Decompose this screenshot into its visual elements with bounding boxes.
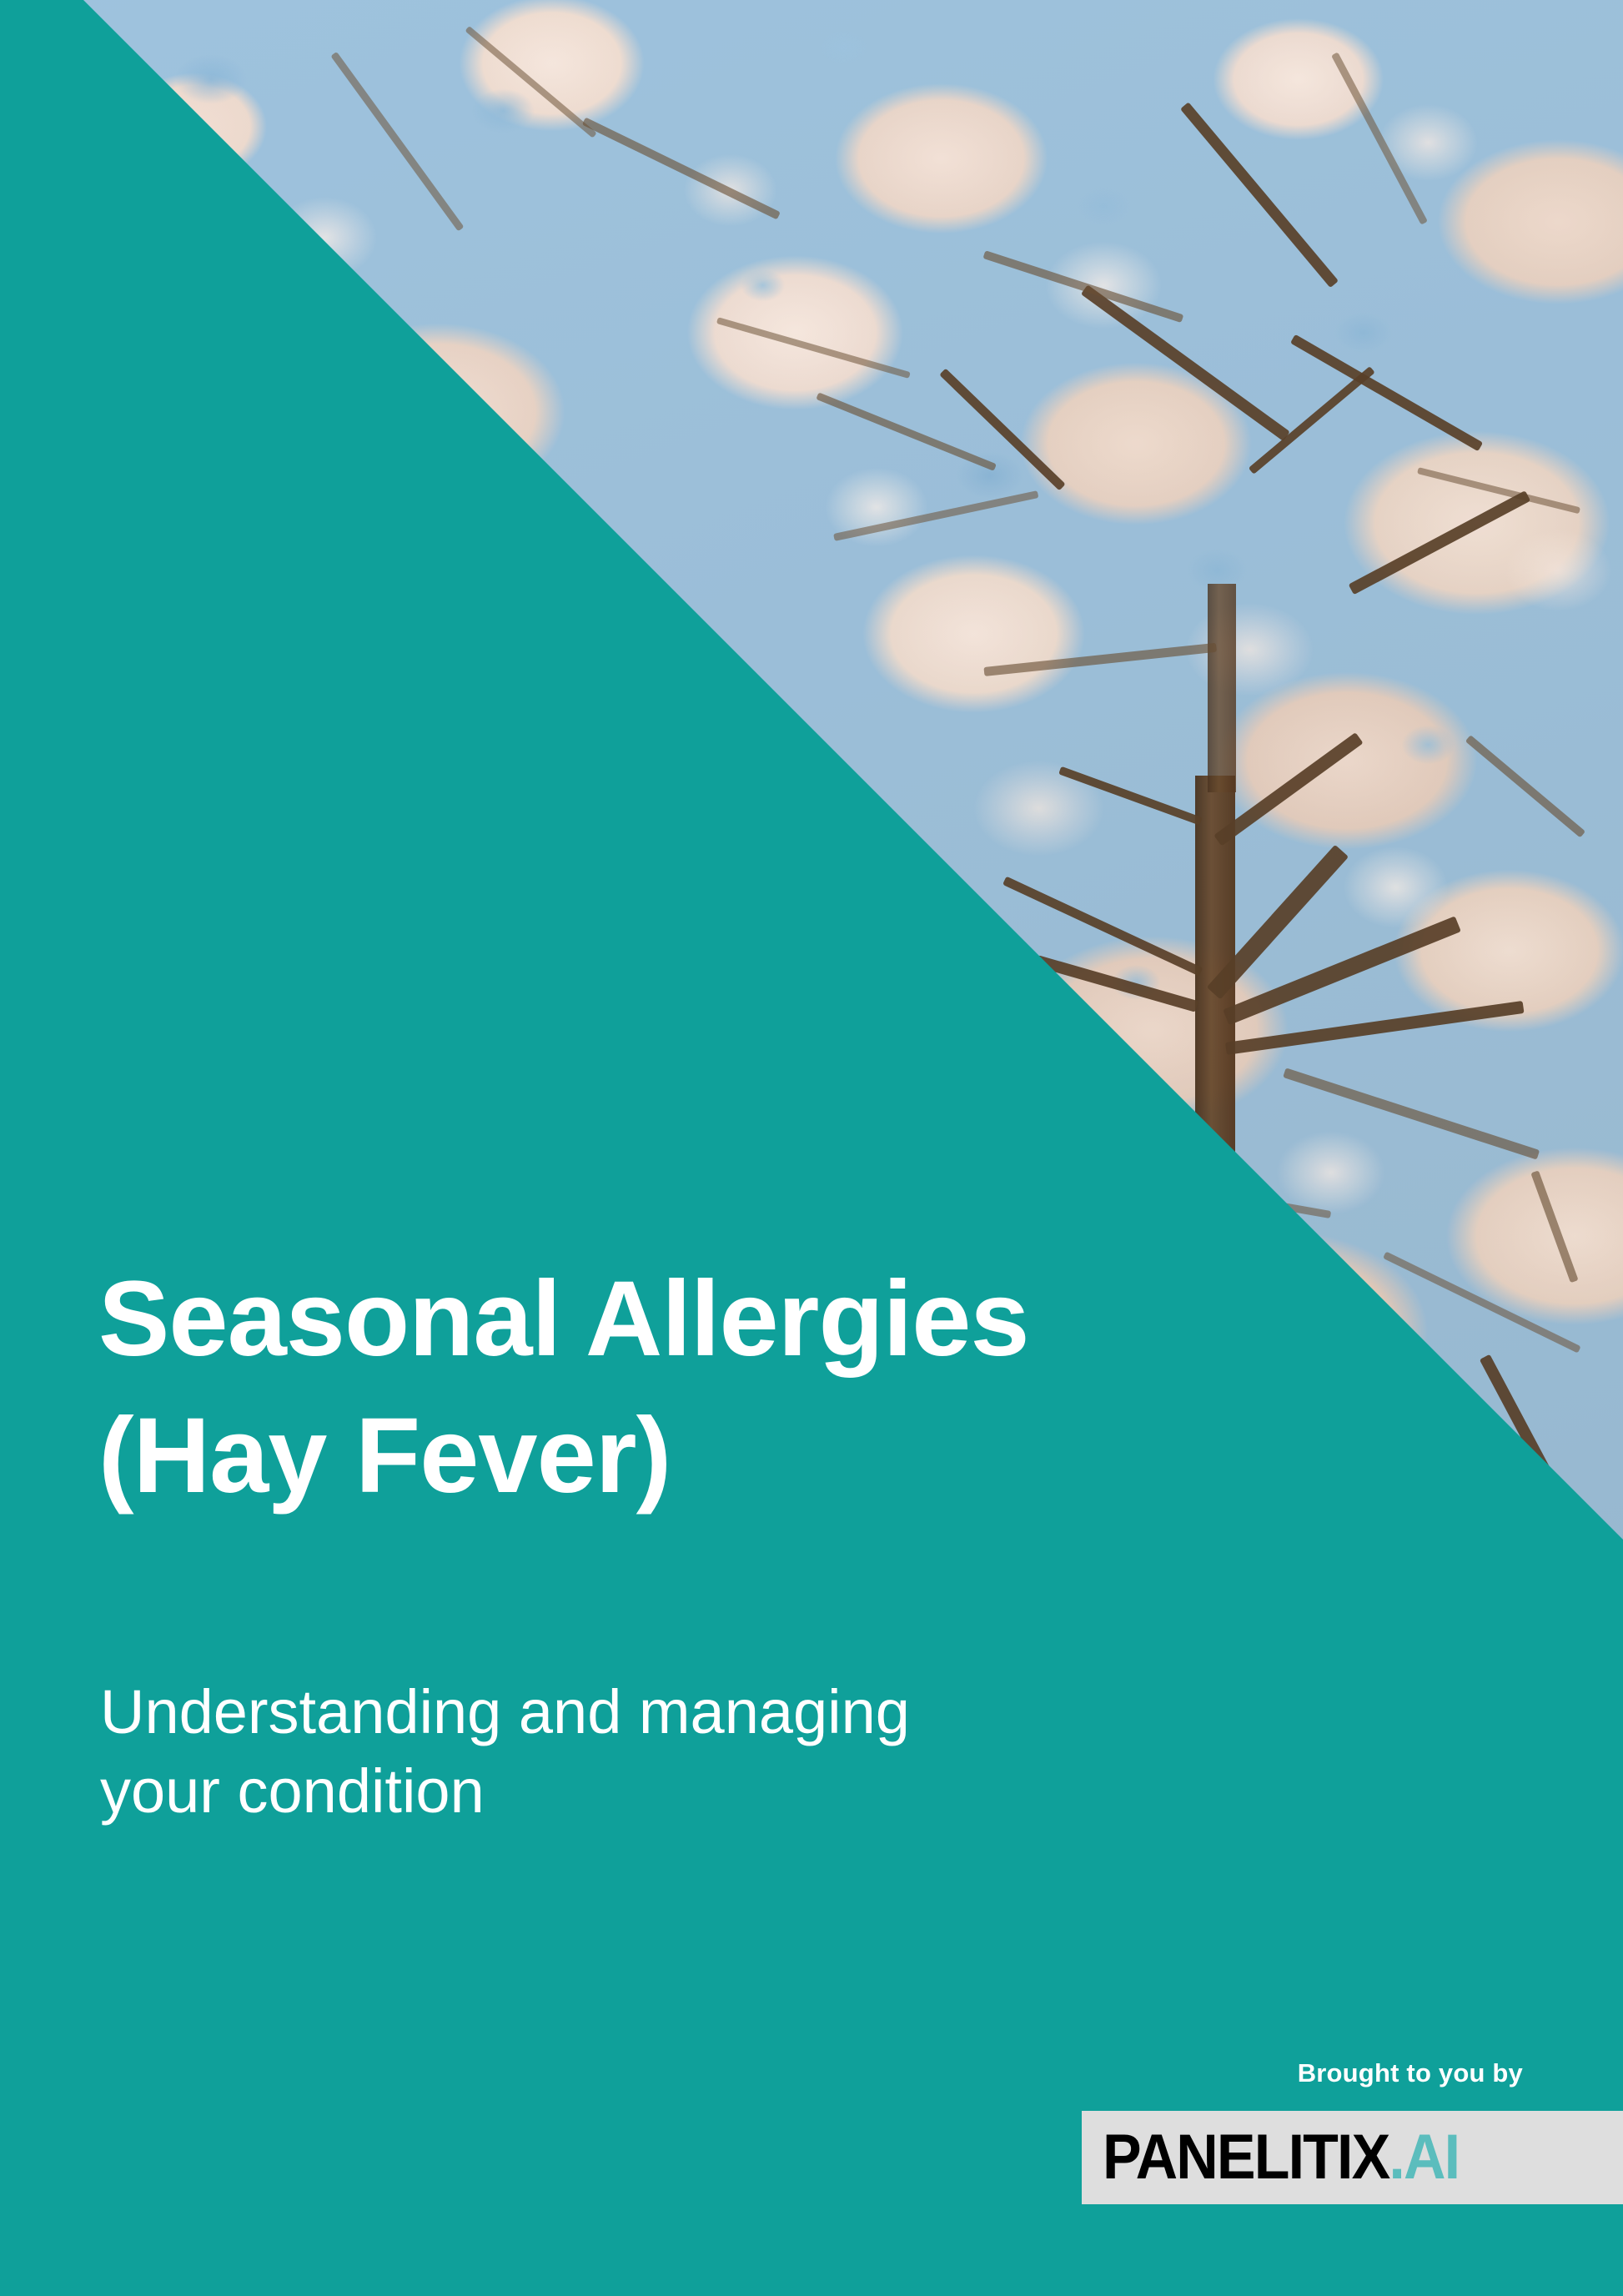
logo-accent-suffix: .AI (1389, 2122, 1459, 2193)
cover-photo-region (0, 0, 1623, 2296)
cover-page: Seasonal Allergies (Hay Fever) Understan… (0, 0, 1623, 2296)
brought-to-you-by-label: Brought to you by (1298, 2058, 1523, 2088)
panelitix-logo-text: PANELITIX.AI (1103, 2126, 1459, 2189)
page-title: Seasonal Allergies (Hay Fever) (98, 1251, 1266, 1525)
logo-brand-name: PANELITIX (1103, 2122, 1389, 2193)
panelitix-logo[interactable]: PANELITIX.AI (1082, 2111, 1623, 2204)
page-subtitle: Understanding and managing your conditio… (100, 1673, 1184, 1831)
